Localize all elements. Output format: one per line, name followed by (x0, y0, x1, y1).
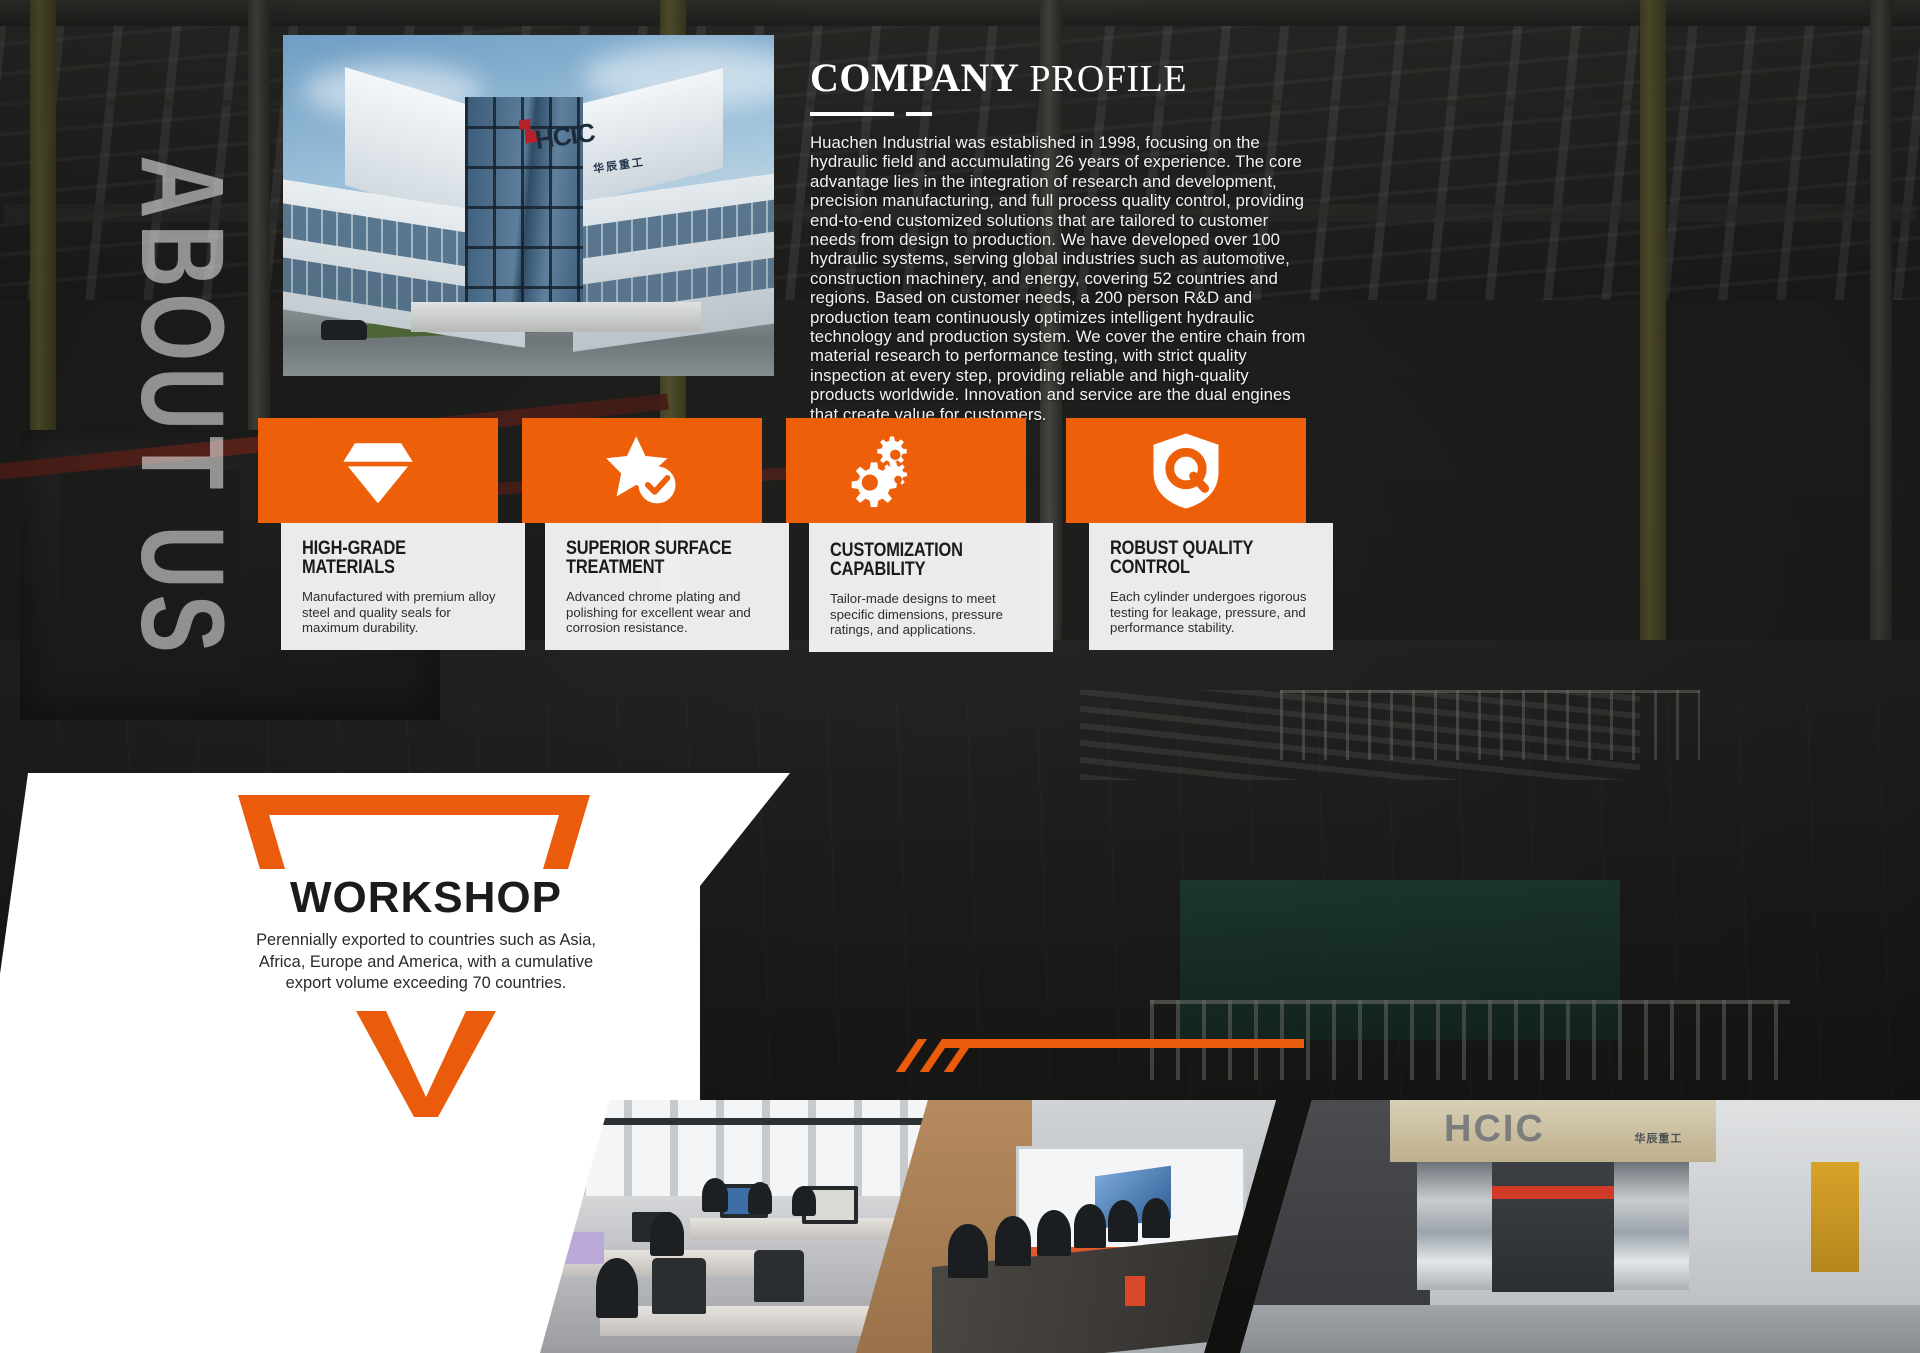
water-bottle (1125, 1276, 1145, 1306)
bracket-top-icon (238, 795, 590, 869)
card-title: SUPERIOR SURFACE TREATMENT (566, 539, 740, 577)
info-board-title-bar (1492, 1186, 1614, 1199)
card-icon-header (786, 418, 1026, 523)
feature-card[interactable]: SUPERIOR SURFACE TREATMENT Advanced chro… (522, 418, 789, 643)
company-profile-text: Huachen Industrial was established in 19… (810, 133, 1310, 424)
window-band (573, 194, 774, 260)
workshop-text: Perennially exported to countries such a… (236, 930, 616, 995)
parked-car (321, 320, 367, 340)
shield-q-icon (1146, 431, 1226, 511)
person (748, 1182, 772, 1214)
hcic-sign-text: HCIC (1444, 1108, 1545, 1151)
card-text: Each cylinder undergoes rigorous testing… (1110, 589, 1317, 636)
card-icon-header (258, 418, 498, 523)
ceiling-beam (540, 1118, 950, 1125)
card-text: Tailor-made designs to meet specific dim… (830, 591, 1037, 638)
card-title: CUSTOMIZATION CAPABILITY (830, 541, 1004, 579)
booth-floor (1240, 1305, 1920, 1353)
workshop-title: WORKSHOP (236, 875, 616, 921)
building-base (411, 302, 701, 332)
card-title: HIGH-GRADE MATERIALS (302, 539, 476, 577)
card-title: ROBUST QUALITY CONTROL (1110, 539, 1284, 577)
card-body: ROBUST QUALITY CONTROL Each cylinder und… (1089, 523, 1333, 650)
card-text: Manufactured with premium alloy steel an… (302, 589, 509, 636)
card-body: HIGH-GRADE MATERIALS Manufactured with p… (281, 523, 525, 650)
section-watermark: ABOUT US (123, 148, 241, 666)
hcic-sign-chinese: 华辰重工 (1634, 1130, 1682, 1146)
page-title: COMPANY PROFILE (810, 58, 1310, 98)
feature-card[interactable]: ROBUST QUALITY CONTROL Each cylinder und… (1066, 418, 1333, 643)
booth-photo: HCIC 华辰重工 (1240, 1100, 1920, 1353)
orange-accent-line (908, 1035, 1308, 1073)
card-text: Advanced chrome plating and polishing fo… (566, 589, 773, 636)
info-board (1492, 1162, 1614, 1292)
mirror-panel (1614, 1162, 1689, 1290)
factory-building-photo: HCIC 华辰重工 (283, 35, 774, 376)
office-windows (540, 1100, 950, 1196)
underline-short (906, 112, 932, 116)
meeting-photo (856, 1100, 1276, 1353)
person (948, 1224, 988, 1278)
feature-card[interactable]: HIGH-GRADE MATERIALS Manufactured with p… (258, 418, 525, 643)
person (1142, 1198, 1170, 1238)
yellow-door (1811, 1162, 1859, 1272)
person (596, 1258, 638, 1318)
person (1108, 1200, 1138, 1242)
gears-icon (849, 434, 923, 508)
star-check-icon (605, 434, 679, 508)
feature-card[interactable]: CUSTOMIZATION CAPABILITY Tailor-made des… (786, 418, 1053, 643)
chevron-down-icon (356, 1011, 496, 1117)
workshop-block: WORKSHOP Perennially exported to countri… (236, 795, 616, 1117)
feature-cards: HIGH-GRADE MATERIALS Manufactured with p… (258, 418, 1568, 643)
person (1037, 1210, 1071, 1256)
office-chair (652, 1258, 706, 1314)
card-icon-header (522, 418, 762, 523)
workshop-photo-strip: HCIC 华辰重工 (540, 1100, 1920, 1353)
title-underline (810, 112, 1310, 116)
company-profile-block: COMPANY PROFILE Huachen Industrial was e… (810, 58, 1310, 424)
underline-long (810, 112, 894, 116)
person (995, 1216, 1031, 1266)
accent-bar (944, 1039, 1304, 1048)
person (1074, 1204, 1106, 1248)
card-body: CUSTOMIZATION CAPABILITY Tailor-made des… (809, 523, 1053, 652)
card-body: SUPERIOR SURFACE TREATMENT Advanced chro… (545, 523, 789, 650)
page-title-light: PROFILE (1019, 58, 1187, 100)
page-title-strong: COMPANY (810, 55, 1019, 100)
person (650, 1212, 684, 1256)
card-icon-header (1066, 418, 1306, 523)
diamond-icon (341, 434, 415, 508)
office-chair (754, 1250, 804, 1302)
person (792, 1186, 816, 1216)
person (702, 1178, 728, 1212)
monitor (560, 1232, 604, 1264)
mirror-panel (1417, 1162, 1492, 1290)
